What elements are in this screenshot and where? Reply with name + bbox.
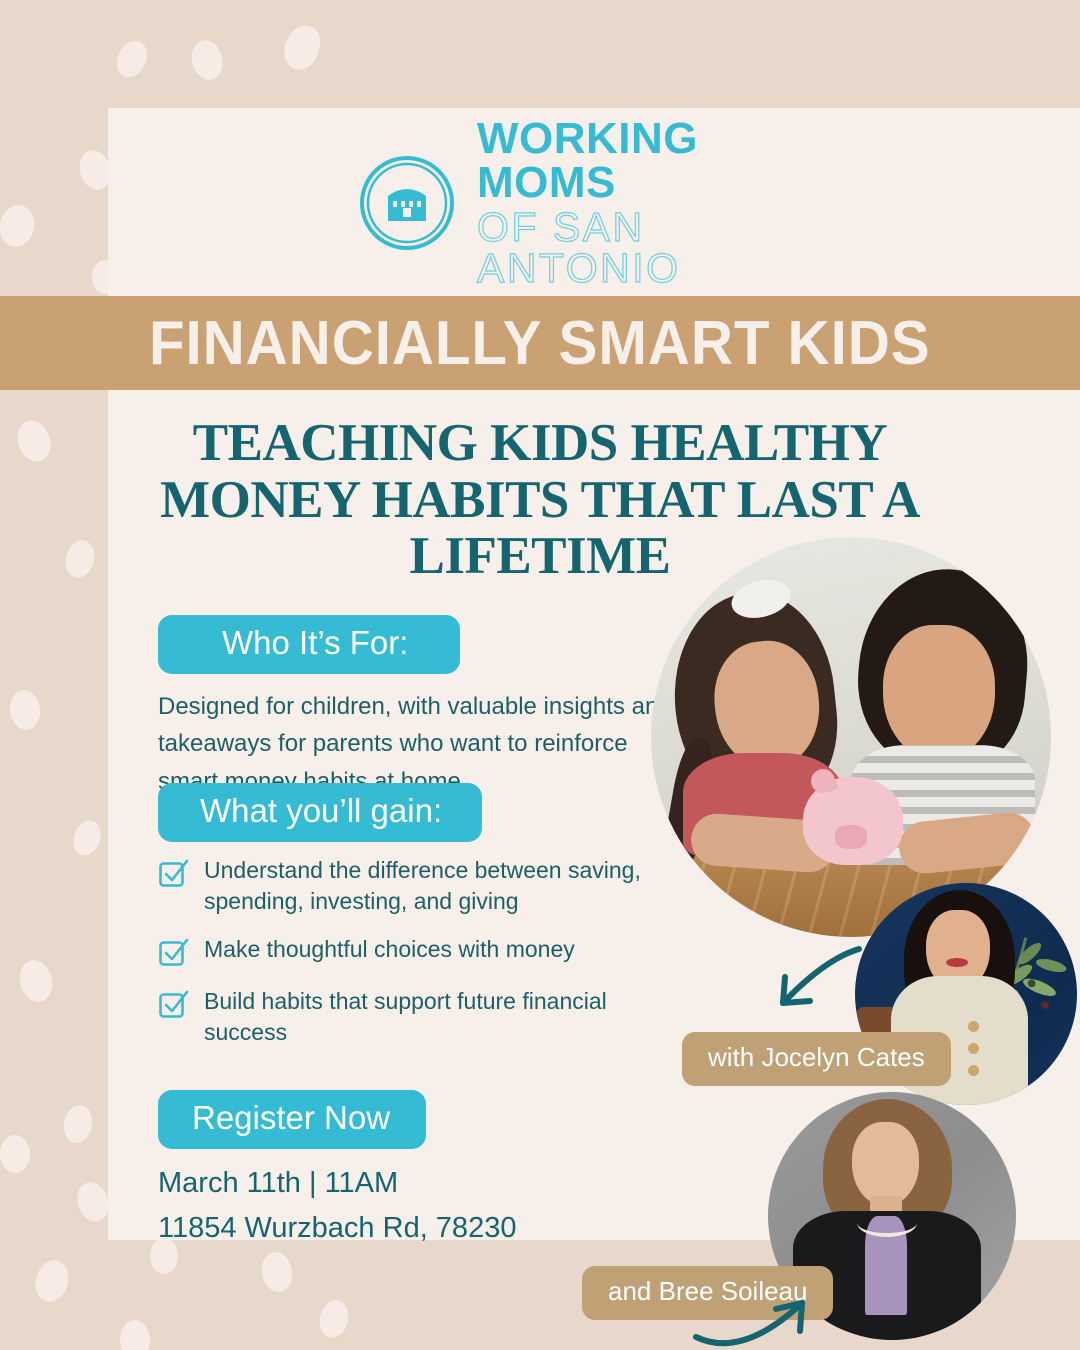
decor-blob — [69, 817, 106, 860]
who-its-for-label: Who It’s For: — [158, 615, 460, 674]
list-item-label: Understand the difference between saving… — [204, 855, 658, 917]
what-youll-gain-label: What you’ll gain: — [158, 783, 482, 842]
decor-blob — [7, 688, 42, 732]
list-item: Understand the difference between saving… — [158, 855, 658, 917]
decor-blob — [259, 1250, 295, 1295]
event-date-time: March 11th | 11AM — [158, 1167, 678, 1200]
flyer-canvas: WORKING MOMS OF SAN ANTONIO FINANCIALLY … — [0, 0, 1080, 1350]
speaker-pill-jocelyn-cates: with Jocelyn Cates — [682, 1032, 951, 1086]
banner-title: FINANCIALLY SMART KIDS — [149, 308, 931, 379]
list-item: Make thoughtful choices with money — [158, 934, 658, 969]
decor-blob — [61, 1103, 95, 1145]
decor-blob — [0, 202, 38, 250]
register-section: Register Now March 11th | 11AM 11854 Wur… — [158, 1090, 678, 1245]
event-address: 11854 Wurzbach Rd, 78230 — [158, 1212, 678, 1245]
benefits-checklist: Understand the difference between saving… — [158, 855, 658, 1065]
checkbox-check-icon — [158, 858, 190, 890]
curved-arrow-icon — [755, 945, 865, 1025]
decor-blob — [120, 1320, 150, 1350]
banner-strip: FINANCIALLY SMART KIDS — [0, 296, 1080, 390]
decor-blob — [188, 37, 226, 82]
hero-photo-kids-piggybank — [651, 537, 1051, 937]
logo-line-1: WORKING MOMS — [477, 117, 805, 205]
checkbox-check-icon — [158, 989, 190, 1021]
decor-blob — [15, 957, 56, 1005]
decor-blob — [316, 1298, 351, 1341]
register-now-button[interactable]: Register Now — [158, 1090, 426, 1149]
decor-blob — [0, 1135, 30, 1173]
brand-logo: WORKING MOMS OF SAN ANTONIO — [355, 145, 805, 260]
list-item: Build habits that support future financi… — [158, 986, 658, 1048]
decor-blob — [111, 36, 152, 82]
alamo-circle-icon — [355, 151, 459, 255]
decor-blob — [12, 416, 56, 466]
checkbox-check-icon — [158, 937, 190, 969]
decor-blob — [31, 1256, 73, 1305]
decor-blob — [62, 537, 98, 581]
what-youll-gain-section: What you’ll gain: — [158, 783, 678, 842]
list-item-label: Make thoughtful choices with money — [204, 934, 575, 965]
decor-blob — [279, 21, 325, 74]
logo-line-2: OF SAN ANTONIO — [477, 207, 805, 289]
who-its-for-section: Who It’s For: Designed for children, wit… — [158, 615, 678, 800]
curved-arrow-icon — [690, 1295, 820, 1350]
list-item-label: Build habits that support future financi… — [204, 986, 658, 1048]
